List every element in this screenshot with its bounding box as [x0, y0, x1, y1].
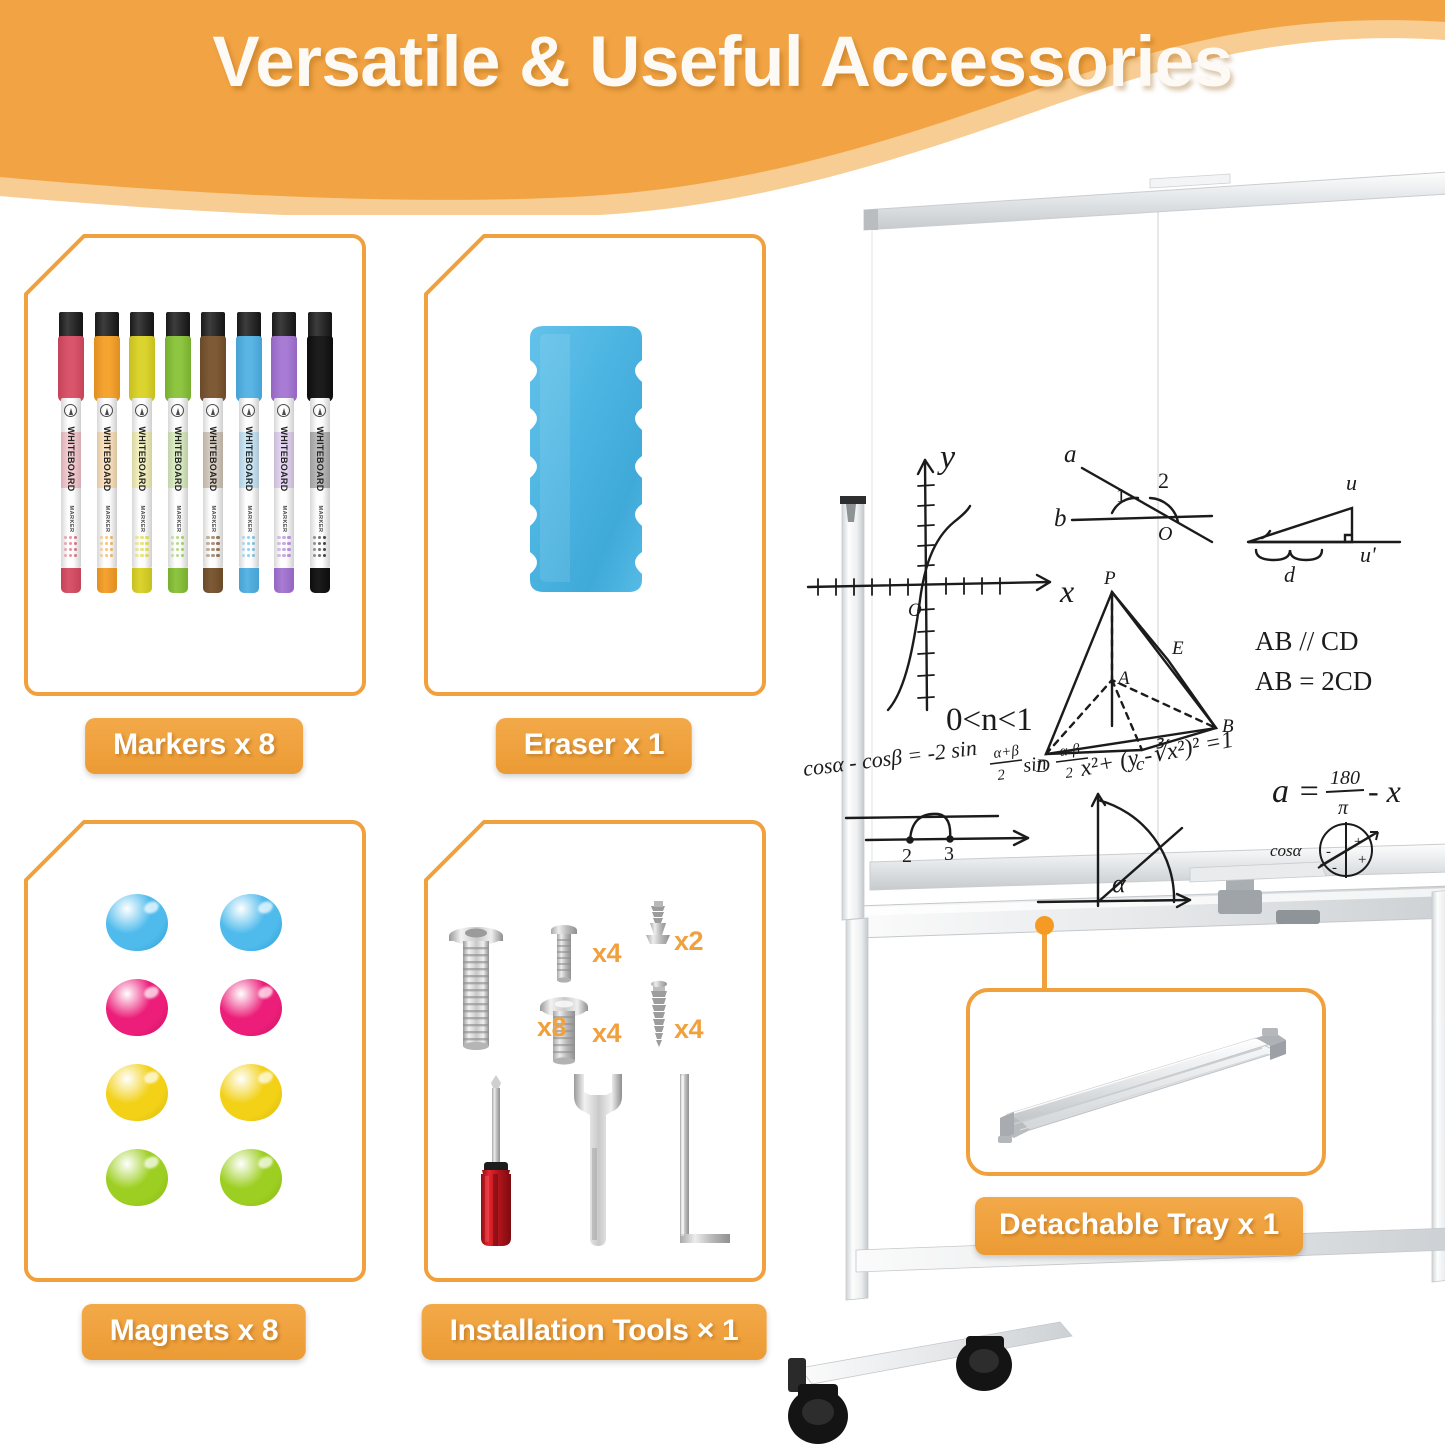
marker-cap: [95, 312, 119, 338]
magnet-yellow: [106, 1064, 168, 1121]
marker-label-sub: MARKER: [246, 506, 252, 533]
badge-detachable-tray: Detachable Tray x 1: [975, 1197, 1303, 1255]
marker-color-dots: [242, 536, 256, 562]
marker-nib-icon: [135, 404, 148, 417]
wood-screw-icon: [651, 981, 667, 1047]
tools-illustration: x8 x4 x2 x4 x4: [422, 818, 766, 1284]
svg-text:O: O: [908, 600, 922, 621]
marker-nib-icon: [64, 404, 77, 417]
marker-label-main: WHITEBOARD: [173, 427, 183, 492]
marker-color-dots: [64, 536, 78, 562]
long-hex-bolt-icon: [449, 927, 503, 1050]
qty-round-head-bolt: x4: [592, 1018, 621, 1049]
marker-nib-icon: [277, 404, 290, 417]
marker-nib-icon: [206, 404, 219, 417]
svg-text:2: 2: [902, 845, 912, 867]
flat-self-tapping-icon: [646, 901, 670, 944]
marker-color-dots: [313, 536, 327, 562]
qty-flat-self-tapping: x2: [674, 926, 703, 957]
marker-barrel: [307, 336, 333, 402]
marker-end-cap: [239, 568, 259, 593]
marker-label-sub: MARKER: [175, 506, 181, 533]
panel-tools: x8 x4 x2 x4 x4 Installation Tools × 1: [422, 818, 766, 1284]
svg-text:A: A: [1116, 668, 1130, 689]
marker-label-main: WHITEBOARD: [137, 427, 147, 492]
marker-end-cap: [203, 568, 223, 593]
marker-label: WHITEBOARDMARKER: [168, 398, 188, 568]
qty-wood-screw: x4: [674, 1014, 703, 1045]
svg-text:a =: a =: [1272, 773, 1320, 810]
marker-red: WHITEBOARDMARKER: [58, 312, 84, 597]
badge-markers: Markers x 8: [85, 718, 303, 774]
svg-text:x: x: [1059, 573, 1074, 609]
badge-tools: Installation Tools × 1: [422, 1304, 767, 1360]
svg-text:u: u: [1346, 470, 1357, 495]
short-pan-bolt-icon: [551, 925, 577, 983]
svg-text:O: O: [1158, 523, 1172, 545]
marker-label: WHITEBOARDMARKER: [203, 398, 223, 568]
open-end-wrench-icon: [574, 1074, 622, 1246]
marker-label-main: WHITEBOARD: [66, 427, 76, 492]
magnet-pink: [220, 979, 282, 1036]
marker-brown: WHITEBOARDMARKER: [200, 312, 226, 597]
svg-text:3: 3: [944, 843, 954, 865]
magnet-green: [220, 1149, 282, 1206]
marker-color-dots: [171, 536, 185, 562]
svg-text:d: d: [1284, 562, 1296, 587]
badge-eraser: Eraser x 1: [496, 718, 692, 774]
marker-cap: [59, 312, 83, 338]
magnet-blue: [220, 894, 282, 951]
marker-label-main: WHITEBOARD: [279, 427, 289, 492]
marker-yellow: WHITEBOARDMARKER: [129, 312, 155, 597]
svg-text:y: y: [937, 439, 956, 476]
svg-text:1: 1: [1116, 485, 1126, 507]
marker-cap: [130, 312, 154, 338]
svg-text:180: 180: [1330, 767, 1360, 789]
marker-barrel: [129, 336, 155, 402]
marker-barrel: [165, 336, 191, 402]
marker-cap: [237, 312, 261, 338]
marker-label-main: WHITEBOARD: [244, 427, 254, 492]
marker-label-main: WHITEBOARD: [102, 427, 112, 492]
svg-text:2: 2: [1158, 468, 1169, 493]
marker-cap: [201, 312, 225, 338]
svg-text:0<n<1: 0<n<1: [946, 702, 1033, 738]
marker-label-sub: MARKER: [68, 506, 74, 533]
marker-label: WHITEBOARDMARKER: [310, 398, 330, 568]
marker-color-dots: [100, 536, 114, 562]
marker-end-cap: [168, 568, 188, 593]
marker-black: WHITEBOARDMARKER: [307, 312, 333, 597]
svg-text:- x: - x: [1368, 773, 1401, 809]
svg-text:+: +: [1358, 852, 1366, 868]
marker-label: WHITEBOARDMARKER: [132, 398, 152, 568]
qty-short-pan-bolt: x4: [592, 938, 621, 969]
marker-label: WHITEBOARDMARKER: [61, 398, 81, 568]
svg-text:α: α: [1112, 869, 1127, 898]
marker-nib-icon: [100, 404, 113, 417]
marker-cap: [272, 312, 296, 338]
magnet-green: [106, 1149, 168, 1206]
marker-color-dots: [206, 536, 220, 562]
magnet-blue: [106, 894, 168, 951]
marker-label-main: WHITEBOARD: [315, 427, 325, 492]
marker-cap: [166, 312, 190, 338]
panel-magnets: Magnets x 8: [22, 818, 366, 1284]
phillips-screwdriver-icon: [481, 1075, 511, 1246]
marker-nib-icon: [313, 404, 326, 417]
marker-cap: [308, 312, 332, 338]
marker-purple: WHITEBOARDMARKER: [271, 312, 297, 597]
svg-text:u': u': [1360, 542, 1376, 567]
marker-barrel: [236, 336, 262, 402]
panel-eraser: Eraser x 1: [422, 232, 766, 698]
marker-label-main: WHITEBOARD: [208, 427, 218, 492]
magnet-yellow: [220, 1064, 282, 1121]
marker-green: WHITEBOARDMARKER: [165, 312, 191, 597]
marker-color-dots: [277, 536, 291, 562]
svg-text:AB = 2CD: AB = 2CD: [1255, 666, 1372, 696]
svg-text:-: -: [1332, 860, 1337, 876]
svg-text:α+β: α+β: [993, 743, 1021, 762]
aluminum-tray-icon: [970, 992, 1322, 1172]
marker-end-cap: [97, 568, 117, 593]
eraser-illustration: [422, 232, 766, 698]
tray-callout-frame: [966, 988, 1326, 1176]
marker-nib-icon: [171, 404, 184, 417]
svg-text:π: π: [1338, 797, 1349, 819]
marker-end-cap: [61, 568, 81, 593]
marker-label-sub: MARKER: [139, 506, 145, 533]
magnet-pink: [106, 979, 168, 1036]
marker-label-sub: MARKER: [104, 506, 110, 533]
marker-nib-icon: [242, 404, 255, 417]
marker-label: WHITEBOARDMARKER: [274, 398, 294, 568]
allen-hex-key-icon: [680, 1074, 730, 1243]
sponge-eraser-icon: [510, 324, 662, 594]
magnet-grid: [94, 880, 294, 1220]
magnets-illustration: [22, 818, 366, 1284]
svg-text:-: -: [1326, 844, 1331, 860]
marker-label-sub: MARKER: [210, 506, 216, 533]
marker-label: WHITEBOARDMARKER: [97, 398, 117, 568]
marker-barrel: [94, 336, 120, 402]
svg-text:+: +: [1354, 834, 1362, 850]
svg-text:b: b: [1054, 505, 1067, 532]
markers-illustration: WHITEBOARDMARKERWHITEBOARDMARKERWHITEBOA…: [22, 232, 366, 698]
marker-blue: WHITEBOARDMARKER: [236, 312, 262, 597]
marker-label-sub: MARKER: [281, 506, 287, 533]
svg-text:P: P: [1103, 568, 1116, 589]
marker-color-dots: [135, 536, 149, 562]
svg-text:cosα: cosα: [1270, 841, 1303, 860]
marker-label: WHITEBOARDMARKER: [239, 398, 259, 568]
badge-magnets: Magnets x 8: [82, 1304, 306, 1360]
marker-end-cap: [132, 568, 152, 593]
svg-text:a: a: [1064, 441, 1077, 468]
marker-barrel: [58, 336, 84, 402]
marker-orange: WHITEBOARDMARKER: [94, 312, 120, 597]
marker-barrel: [200, 336, 226, 402]
svg-text:E: E: [1171, 638, 1184, 659]
marker-label-sub: MARKER: [317, 506, 323, 533]
panel-markers: WHITEBOARDMARKERWHITEBOARDMARKERWHITEBOA…: [22, 232, 366, 698]
marker-barrel: [271, 336, 297, 402]
qty-long-hex-bolt: x8: [537, 1012, 566, 1043]
svg-text:sin: sin: [1022, 752, 1048, 777]
marker-row: WHITEBOARDMARKERWHITEBOARDMARKERWHITEBOA…: [58, 312, 333, 602]
marker-end-cap: [310, 568, 330, 593]
svg-text:AB // CD: AB // CD: [1255, 626, 1359, 656]
callout-anchor-dot: [1035, 916, 1054, 935]
page-title: Versatile & Useful Accessories: [0, 22, 1445, 103]
marker-end-cap: [274, 568, 294, 593]
